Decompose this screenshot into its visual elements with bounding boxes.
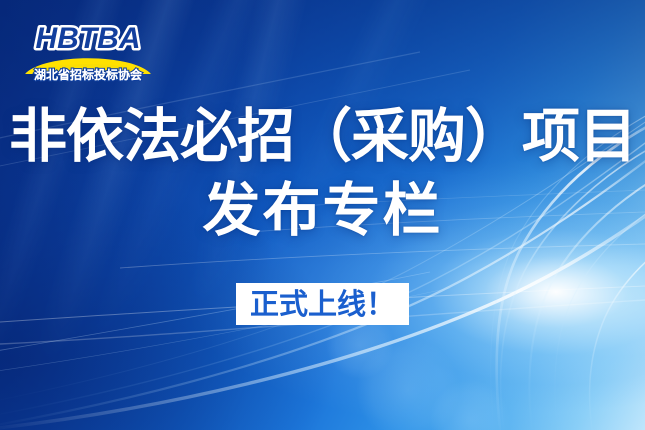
headline-line-2: 发布专栏: [0, 182, 645, 240]
logo-association-name: 湖北省招标投标协会: [24, 67, 152, 84]
launch-status-badge: 正式上线！: [236, 283, 409, 325]
headline-line-1: 非依法必招（采购）项目: [0, 108, 645, 166]
association-logo: HBTBA HBTBA 湖北省招标投标协会 湖北省招标投标协会: [24, 18, 152, 84]
launch-status-badge-text: 正式上线！: [250, 291, 395, 320]
logo-acronym-fill: HBTBA: [36, 22, 141, 55]
banner-headline: 非依法必招（采购）项目 发布专栏: [0, 108, 645, 240]
promotional-banner: HBTBA HBTBA 湖北省招标投标协会 湖北省招标投标协会 非依法必招（采购…: [0, 0, 645, 430]
